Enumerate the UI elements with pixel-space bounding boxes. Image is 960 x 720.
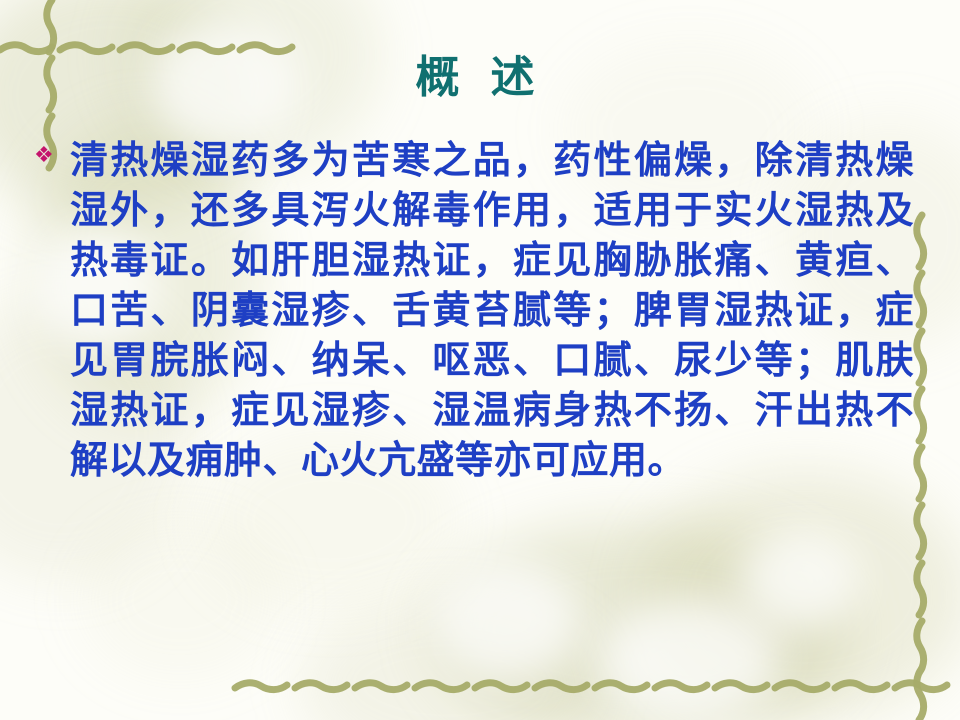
border-right-stroke [917, 215, 924, 720]
bullet-list-item: ❖ 清热燥湿药多为苦寒之品，药性偏燥，除清热燥湿外，还多具泻火解毒作用，适用于实… [34, 136, 914, 486]
border-bottom-stroke [235, 683, 947, 690]
body-paragraph: 清热燥湿药多为苦寒之品，药性偏燥，除清热燥湿外，还多具泻火解毒作用，适用于实火湿… [70, 136, 914, 486]
border-top-stroke [0, 45, 292, 52]
slide-title: 概 述 [0, 54, 960, 102]
diamond-bullet-icon: ❖ [34, 145, 70, 167]
slide-canvas: 概 述 ❖ 清热燥湿药多为苦寒之品，药性偏燥，除清热燥湿外，还多具泻火解毒作用，… [0, 0, 960, 720]
